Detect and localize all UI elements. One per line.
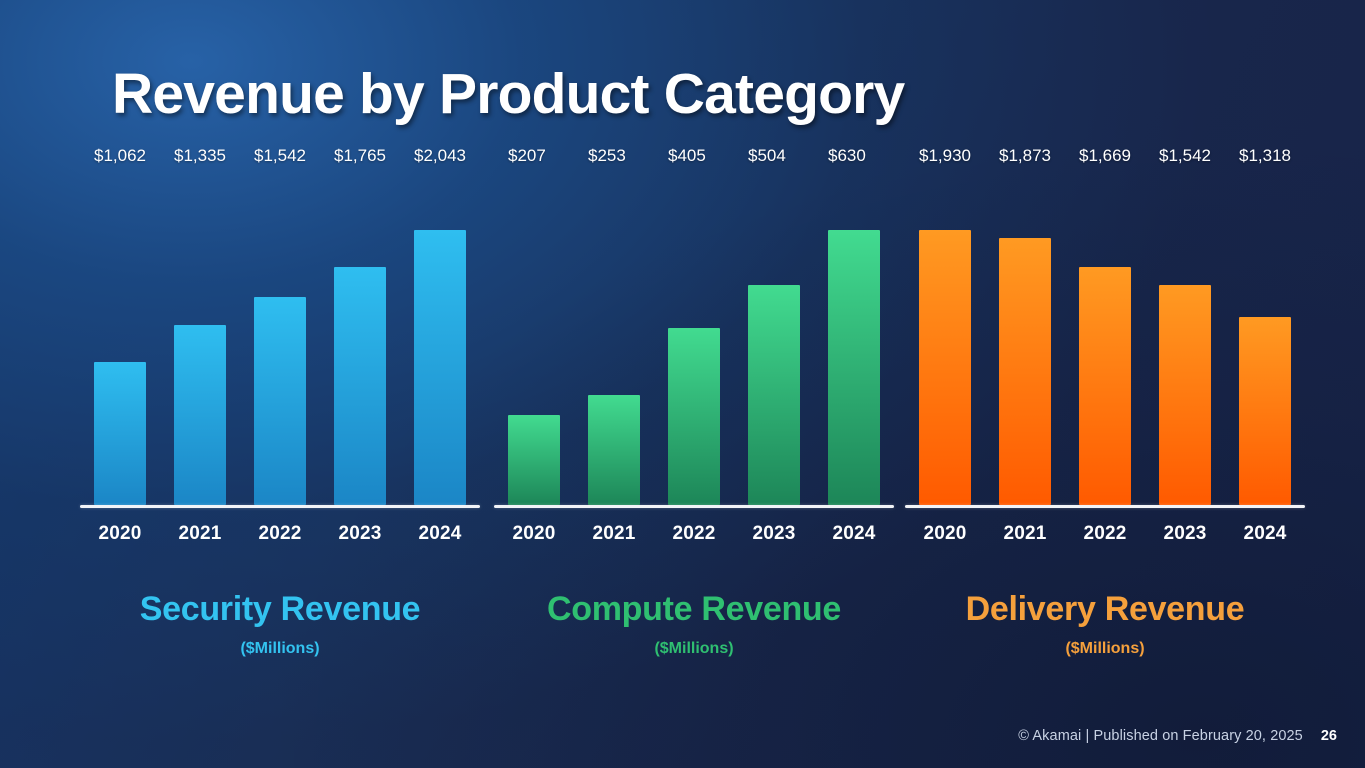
x-axis-label: 2023 — [334, 523, 386, 545]
chart-panel-compute: $207$253$405$504$630 2020202120222023202… — [494, 170, 894, 670]
chart-title-security: Security Revenue — [80, 591, 480, 628]
bar-value-label: $1,930 — [919, 147, 971, 164]
bar-value-label: $504 — [748, 147, 786, 164]
chart-panel-security: $1,062$1,335$1,542$1,765$2,043 202020212… — [80, 170, 480, 670]
bar-item: $1,062 — [94, 170, 146, 505]
x-axis-label: 2023 — [1159, 523, 1211, 545]
bar: $253 — [588, 395, 640, 505]
slide-footer: © Akamai | Published on February 20, 202… — [1018, 728, 1337, 744]
x-axis-label: 2020 — [508, 523, 560, 545]
chart-subtitle-compute: ($Millions) — [494, 640, 894, 658]
bar-item: $1,873 — [999, 170, 1051, 505]
bar-value-label: $1,765 — [334, 147, 386, 164]
bar-group-security: $1,062$1,335$1,542$1,765$2,043 — [94, 170, 466, 505]
bar-value-label: $1,318 — [1239, 147, 1291, 164]
bar-item: $1,930 — [919, 170, 971, 505]
bar-value-label: $1,542 — [254, 147, 306, 164]
x-axis-labels-compute: 20202021202220232024 — [508, 523, 880, 545]
bar-value-label: $1,873 — [999, 147, 1051, 164]
x-axis-label: 2020 — [919, 523, 971, 545]
x-axis-labels-delivery: 20202021202220232024 — [919, 523, 1291, 545]
axis-baseline-security — [80, 505, 480, 508]
axis-baseline-delivery — [905, 505, 1305, 508]
bar: $1,765 — [334, 267, 386, 505]
bar: $405 — [668, 328, 720, 505]
x-axis-label: 2022 — [1079, 523, 1131, 545]
bar-value-label: $253 — [588, 147, 626, 164]
bar-item: $405 — [668, 170, 720, 505]
bar: $2,043 — [414, 230, 466, 505]
x-axis-label: 2024 — [1239, 523, 1291, 545]
chart-subtitle-delivery: ($Millions) — [905, 640, 1305, 658]
plot-area-security: $1,062$1,335$1,542$1,765$2,043 — [94, 170, 466, 505]
x-axis-label: 2024 — [828, 523, 880, 545]
bar: $1,318 — [1239, 317, 1291, 505]
bar-group-compute: $207$253$405$504$630 — [508, 170, 880, 505]
bar-value-label: $1,669 — [1079, 147, 1131, 164]
bar-item: $1,318 — [1239, 170, 1291, 505]
bar-value-label: $1,335 — [174, 147, 226, 164]
x-axis-label: 2021 — [999, 523, 1051, 545]
plot-area-delivery: $1,930$1,873$1,669$1,542$1,318 — [919, 170, 1291, 505]
x-axis-label: 2020 — [94, 523, 146, 545]
bar-value-label: $405 — [668, 147, 706, 164]
chart-subtitle-security: ($Millions) — [80, 640, 480, 658]
bar-item: $207 — [508, 170, 560, 505]
bar: $1,542 — [254, 297, 306, 505]
plot-area-compute: $207$253$405$504$630 — [508, 170, 880, 505]
bar-item: $1,669 — [1079, 170, 1131, 505]
bar: $1,930 — [919, 230, 971, 505]
x-axis-label: 2021 — [588, 523, 640, 545]
bar: $504 — [748, 285, 800, 505]
footer-copyright: © Akamai | Published on February 20, 202… — [1018, 728, 1303, 744]
bar-item: $1,542 — [1159, 170, 1211, 505]
bar: $207 — [508, 415, 560, 505]
axis-baseline-compute — [494, 505, 894, 508]
x-axis-labels-security: 20202021202220232024 — [94, 523, 466, 545]
bar: $1,335 — [174, 325, 226, 505]
chart-panel-delivery: $1,930$1,873$1,669$1,542$1,318 202020212… — [905, 170, 1305, 670]
bar-value-label: $207 — [508, 147, 546, 164]
bar-item: $2,043 — [414, 170, 466, 505]
x-axis-label: 2022 — [668, 523, 720, 545]
chart-title-delivery: Delivery Revenue — [905, 591, 1305, 628]
bar-value-label: $2,043 — [414, 147, 466, 164]
bar: $1,873 — [999, 238, 1051, 505]
bar: $630 — [828, 230, 880, 505]
bar-item: $504 — [748, 170, 800, 505]
x-axis-label: 2021 — [174, 523, 226, 545]
x-axis-label: 2024 — [414, 523, 466, 545]
bar-item: $1,765 — [334, 170, 386, 505]
bar-value-label: $630 — [828, 147, 866, 164]
bar-item: $1,335 — [174, 170, 226, 505]
bar-item: $253 — [588, 170, 640, 505]
bar-item: $630 — [828, 170, 880, 505]
page-title: Revenue by Product Category — [112, 61, 904, 127]
bar-group-delivery: $1,930$1,873$1,669$1,542$1,318 — [919, 170, 1291, 505]
bar-value-label: $1,542 — [1159, 147, 1211, 164]
x-axis-label: 2023 — [748, 523, 800, 545]
chart-title-compute: Compute Revenue — [494, 591, 894, 628]
bar-item: $1,542 — [254, 170, 306, 505]
slide-canvas: Revenue by Product Category $1,062$1,335… — [0, 0, 1365, 768]
bar: $1,542 — [1159, 285, 1211, 505]
page-number: 26 — [1321, 728, 1337, 744]
x-axis-label: 2022 — [254, 523, 306, 545]
bar: $1,669 — [1079, 267, 1131, 505]
bar: $1,062 — [94, 362, 146, 505]
bar-value-label: $1,062 — [94, 147, 146, 164]
